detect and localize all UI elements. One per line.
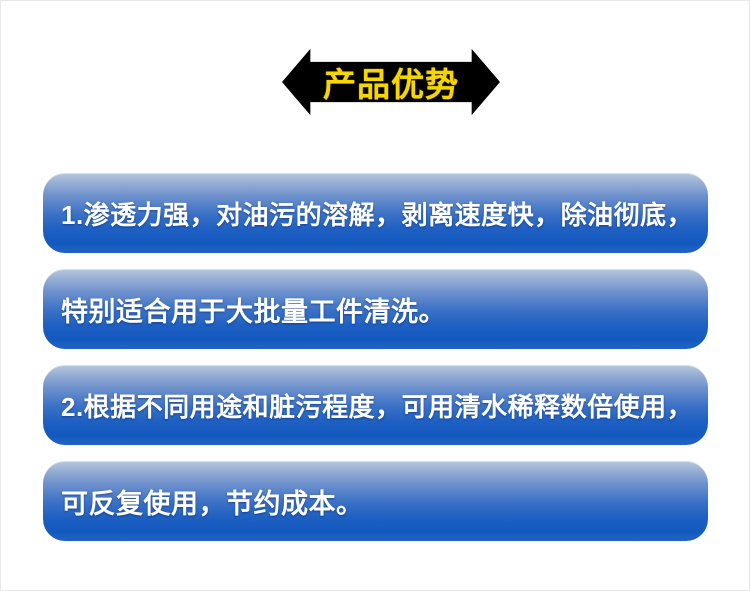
list-item: 2.根据不同用途和脏污程度，可用清水稀释数倍使用， (43, 365, 708, 445)
page-title: 产品优势 (282, 46, 500, 118)
advantage-text: 1.渗透力强，对油污的溶解，剥离速度快，除油彻底， (61, 173, 692, 253)
product-advantages-page: 产品优势 1.渗透力强，对油污的溶解，剥离速度快，除油彻底， 特别适合用于大批量… (0, 0, 750, 591)
list-item: 可反复使用，节约成本。 (43, 461, 708, 541)
advantage-text: 可反复使用，节约成本。 (61, 461, 692, 541)
list-item: 特别适合用于大批量工件清洗。 (43, 269, 708, 349)
advantage-text: 2.根据不同用途和脏污程度，可用清水稀释数倍使用， (61, 365, 692, 445)
advantage-text: 特别适合用于大批量工件清洗。 (61, 269, 692, 349)
advantages-list: 1.渗透力强，对油污的溶解，剥离速度快，除油彻底， 特别适合用于大批量工件清洗。… (43, 173, 708, 557)
list-item: 1.渗透力强，对油污的溶解，剥离速度快，除油彻底， (43, 173, 708, 253)
section-header-banner: 产品优势 (282, 46, 500, 118)
